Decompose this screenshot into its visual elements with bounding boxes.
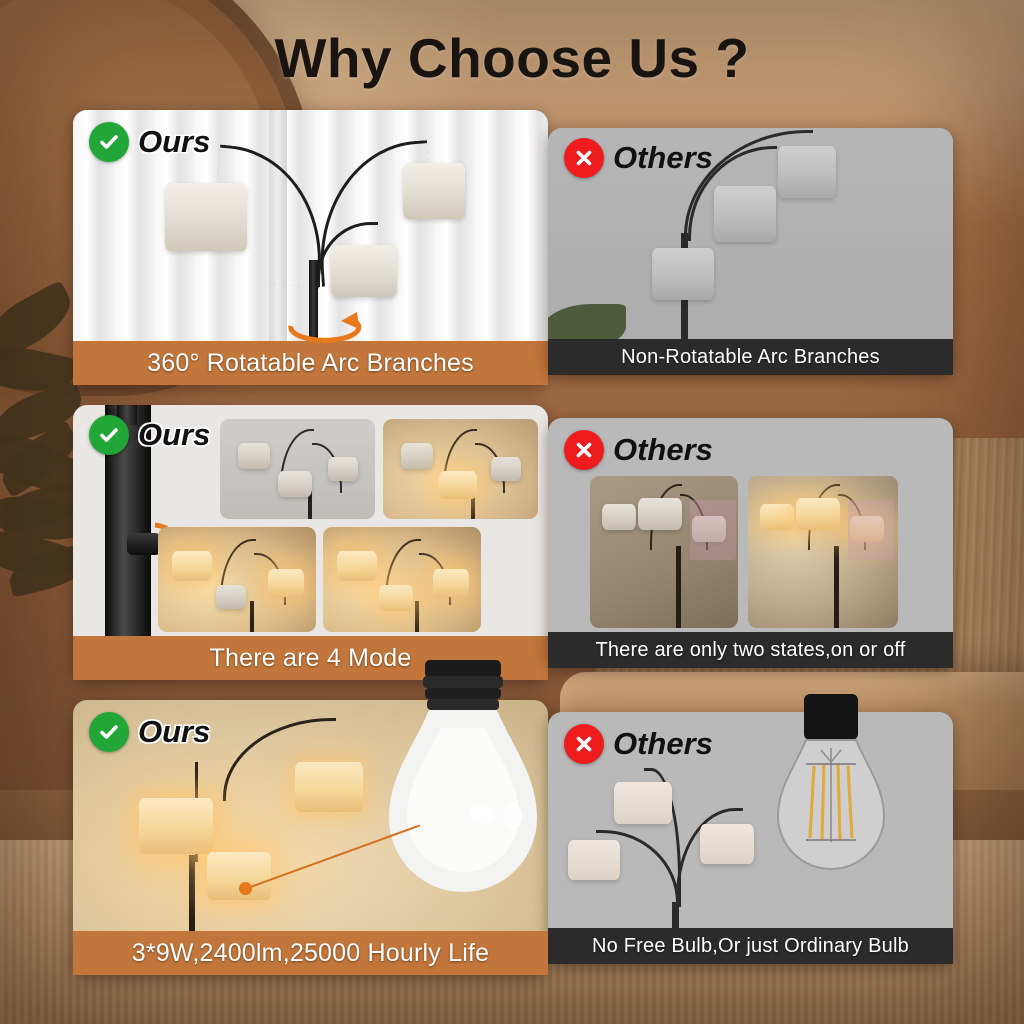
card-ours-rotatable: Ours 360° Rotatable Arc Branches bbox=[73, 110, 548, 385]
badge-others-label: Others bbox=[613, 140, 713, 176]
badge-ours: Ours bbox=[89, 415, 210, 455]
badge-ours: Ours bbox=[89, 122, 210, 162]
badge-ours-label: Ours bbox=[138, 714, 210, 750]
led-bulb-image bbox=[363, 658, 563, 948]
caption-others-modes: There are only two states,on or off bbox=[548, 632, 953, 668]
badge-others: Others bbox=[564, 430, 713, 470]
cross-circle-icon bbox=[564, 430, 604, 470]
cross-circle-icon bbox=[564, 138, 604, 178]
badge-others-label: Others bbox=[613, 432, 713, 468]
lamp-shade-top bbox=[778, 146, 836, 198]
filament-bulb-image bbox=[766, 690, 896, 910]
state-thumb-off bbox=[590, 476, 738, 628]
check-circle-icon bbox=[89, 122, 129, 162]
caption-text: There are only two states,on or off bbox=[595, 639, 905, 662]
callout-dot bbox=[239, 882, 252, 895]
lamp-shade-bottom bbox=[652, 248, 714, 300]
lamp-shade-lower bbox=[207, 852, 271, 900]
badge-ours-label: Ours bbox=[138, 417, 210, 453]
cross-circle-icon bbox=[564, 724, 604, 764]
caption-text: No Free Bulb,Or just Ordinary Bulb bbox=[592, 935, 909, 958]
mode-thumb-1 bbox=[220, 419, 375, 519]
card-others-rotatable: Others Non-Rotatable Arc Branches bbox=[548, 128, 953, 375]
check-circle-icon bbox=[89, 415, 129, 455]
lamp-shade-right bbox=[700, 824, 754, 864]
mode-thumb-4 bbox=[323, 527, 481, 632]
card-ours-modes: Ours There are 4 Mode bbox=[73, 405, 548, 680]
lamp-shade-left bbox=[139, 798, 213, 854]
state-thumb-on bbox=[748, 476, 898, 628]
badge-others: Others bbox=[564, 138, 713, 178]
card-others-modes: Others There are only two states,on or o… bbox=[548, 418, 953, 668]
badge-ours: Ours bbox=[89, 712, 210, 752]
caption-text: 3*9W,2400lm,25000 Hourly Life bbox=[132, 939, 489, 968]
mode-thumb-2 bbox=[383, 419, 538, 519]
caption-text: Non-Rotatable Arc Branches bbox=[621, 346, 880, 369]
lamp-shade-left bbox=[568, 840, 620, 880]
lamp-shade-right bbox=[403, 163, 465, 219]
check-circle-icon bbox=[89, 712, 129, 752]
page-title: Why Choose Us ? bbox=[0, 26, 1024, 90]
lamp-shade-top bbox=[614, 782, 672, 824]
caption-ours-bulb: 3*9W,2400lm,25000 Hourly Life bbox=[73, 931, 548, 975]
mode-thumb-3 bbox=[158, 527, 316, 632]
lamp-shade-center bbox=[331, 245, 397, 297]
caption-others-bulb: No Free Bulb,Or just Ordinary Bulb bbox=[548, 928, 953, 964]
badge-others: Others bbox=[564, 724, 713, 764]
lamp-shade-right bbox=[295, 762, 363, 812]
caption-text: 360° Rotatable Arc Branches bbox=[147, 349, 474, 378]
lamp-shade-middle bbox=[714, 186, 776, 242]
badge-ours-label: Ours bbox=[138, 124, 210, 160]
caption-others-rotatable: Non-Rotatable Arc Branches bbox=[548, 339, 953, 375]
rotation-arrow-icon bbox=[279, 306, 371, 346]
card-others-bulb: Others No Free Bulb,Or just Ordinary Bul… bbox=[548, 712, 953, 964]
card-ours-bulb: Ours 3*9W,2400lm,25000 Hourly Life bbox=[73, 700, 548, 975]
caption-ours-rotatable: 360° Rotatable Arc Branches bbox=[73, 341, 548, 385]
lamp-shade-left bbox=[165, 183, 247, 251]
badge-others-label: Others bbox=[613, 726, 713, 762]
